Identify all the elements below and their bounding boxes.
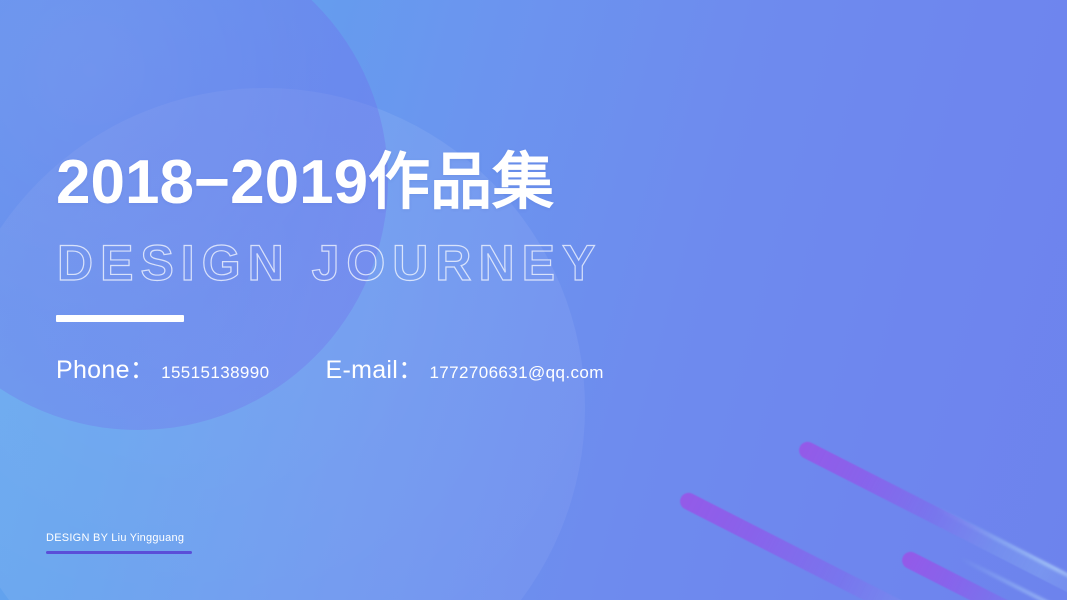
comet-streak-3: [899, 549, 1067, 600]
slide-subtitle-english-outline: DESIGN JOURNEY: [57, 236, 602, 291]
comet-streak-1: [796, 439, 1067, 600]
slide-content: 2018−2019作品集 DESIGN JOURNEY Phone： 15515…: [56, 0, 756, 600]
presentation-cover-slide: 2018−2019作品集 DESIGN JOURNEY Phone： 15515…: [0, 0, 1067, 600]
white-accent-bar: [56, 315, 184, 322]
email-value: 1772706631@qq.com: [429, 363, 603, 383]
phone-label: Phone：: [56, 350, 155, 386]
comet-tail-1: [929, 503, 1067, 593]
phone-value: 15515138990: [161, 363, 269, 383]
comet-tail-2: [959, 556, 1067, 600]
email-label: E-mail：: [326, 350, 424, 386]
footer-credit: DESIGN BY Liu Yingguang: [46, 532, 206, 554]
contact-info-row: Phone： 15515138990 E-mail： 1772706631@qq…: [56, 350, 604, 386]
footer-credit-text: DESIGN BY Liu Yingguang: [46, 532, 206, 544]
slide-title-chinese: 2018−2019作品集: [56, 150, 554, 216]
footer-purple-rule: [46, 551, 192, 554]
